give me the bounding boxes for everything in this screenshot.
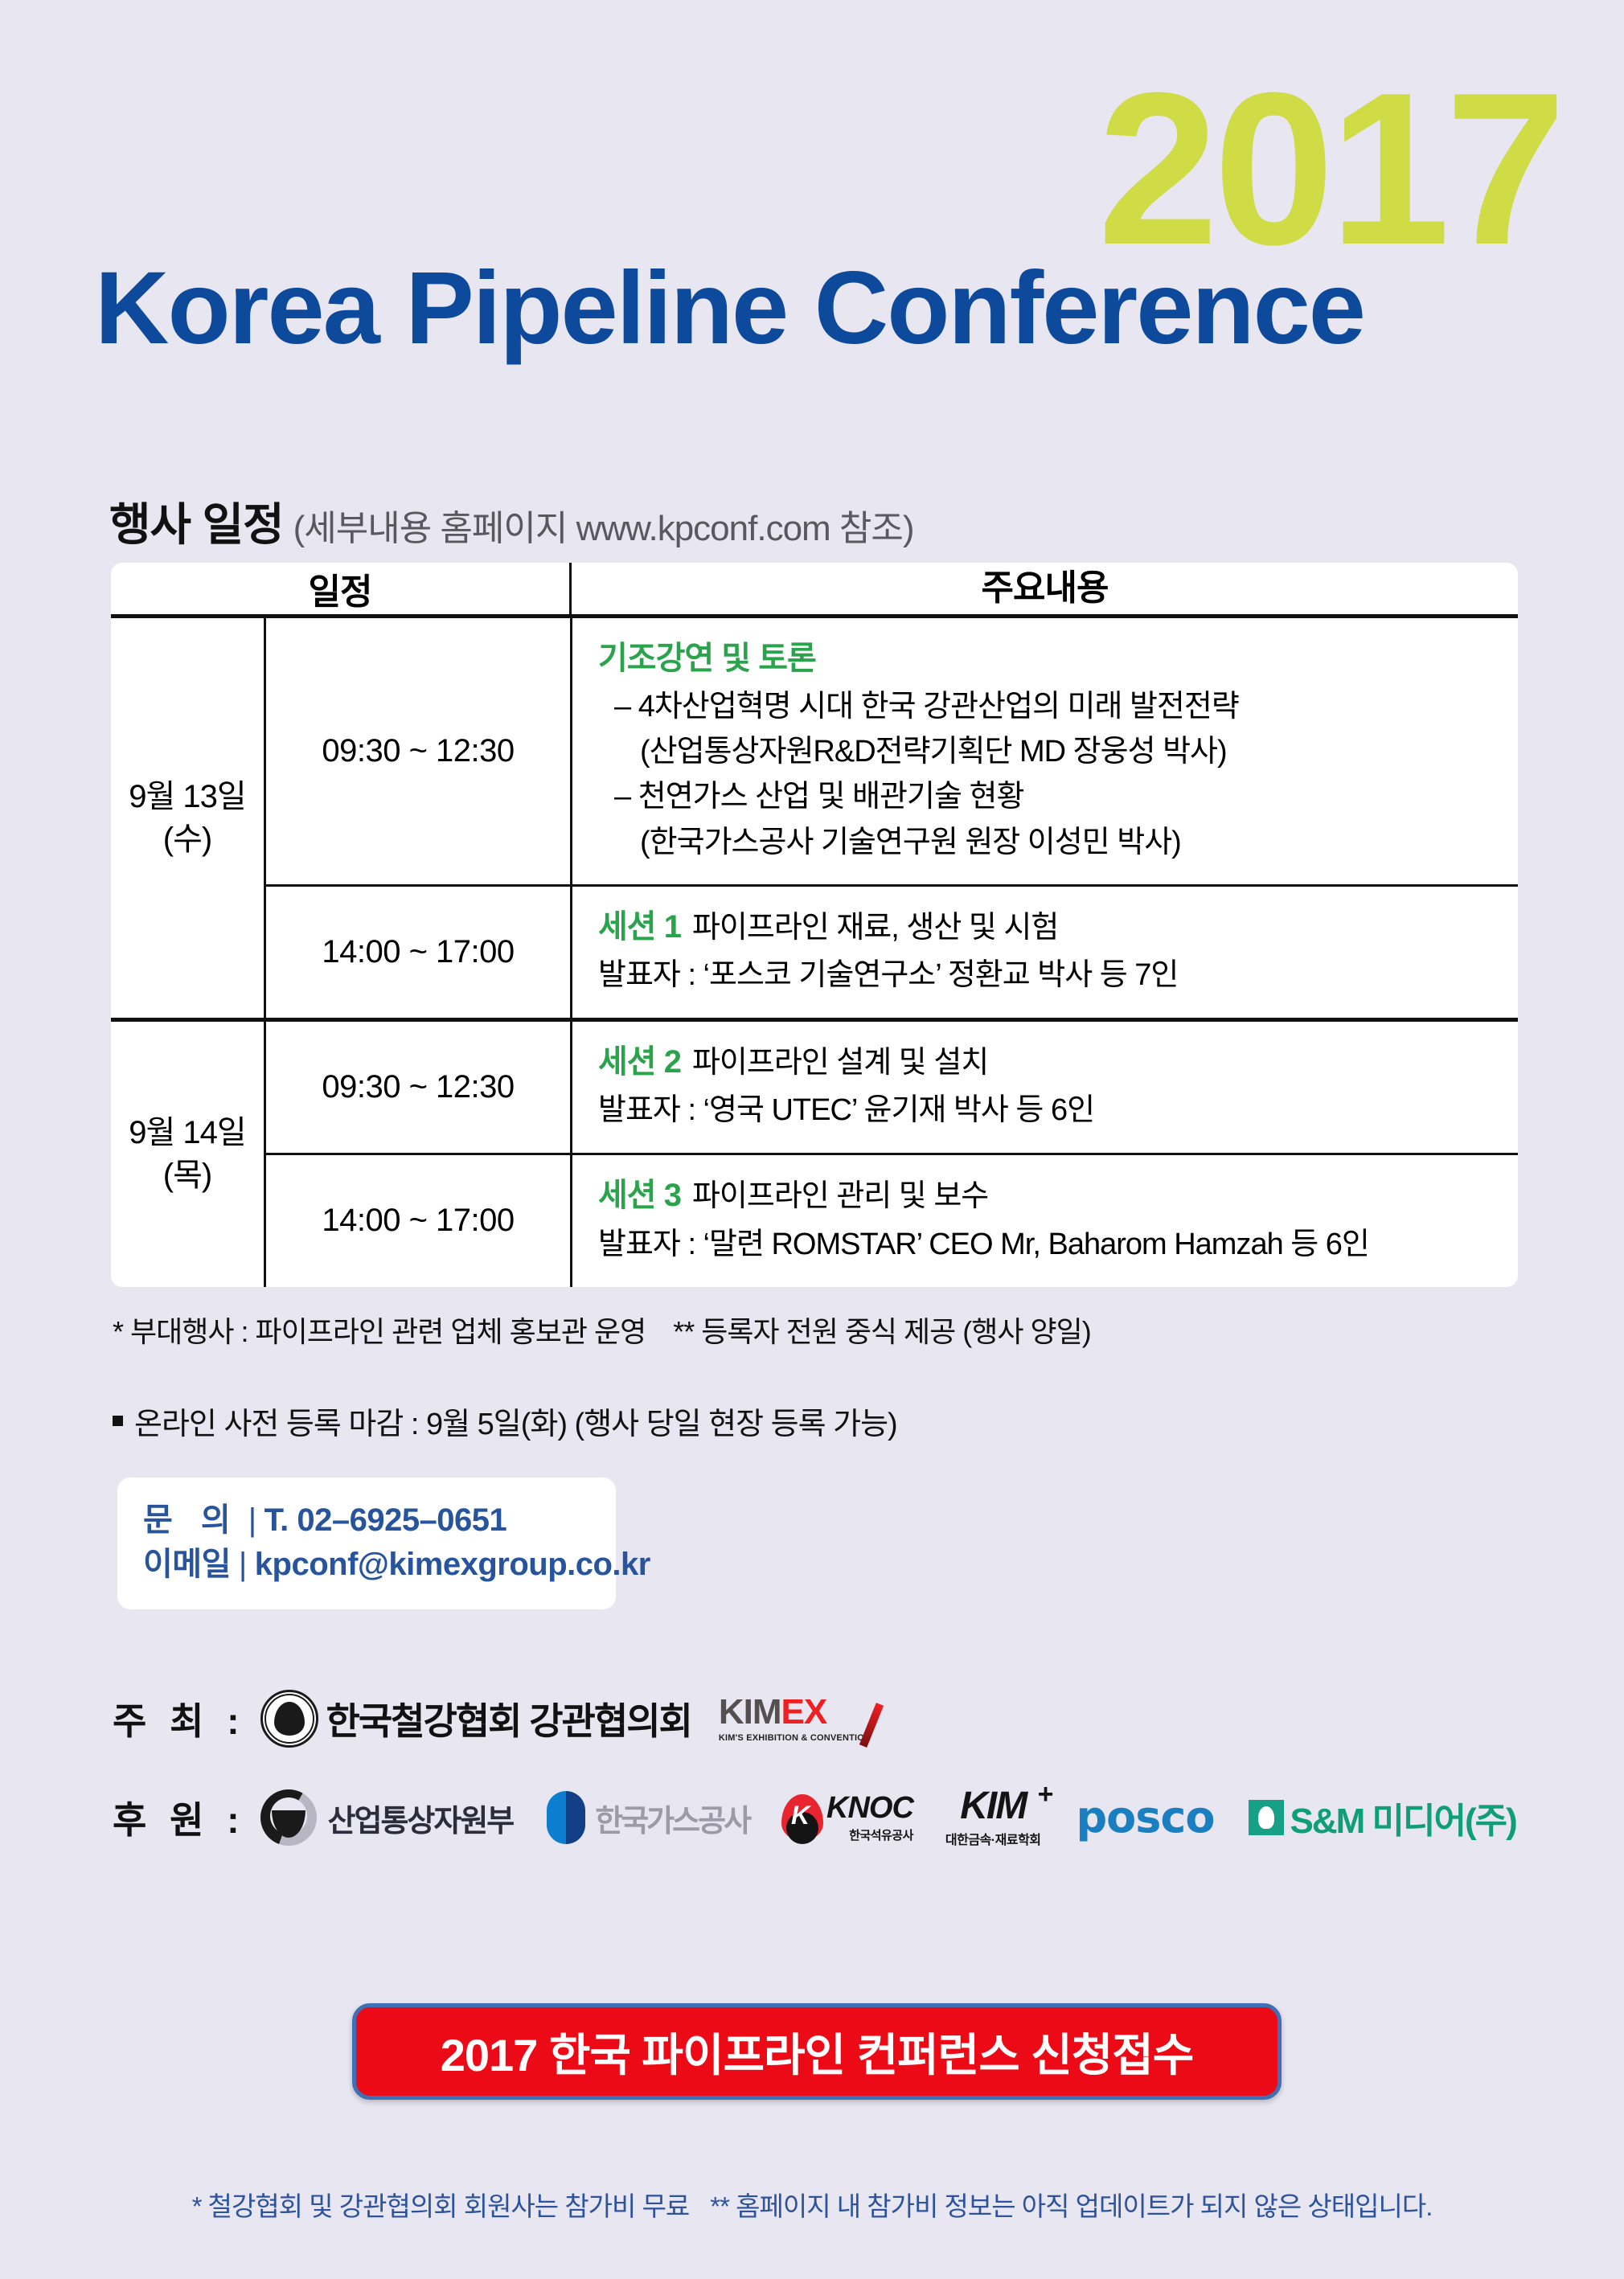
kimex-wordmark: KIMEX (719, 1695, 826, 1730)
session-number: 세션 2 (598, 1044, 681, 1080)
sponsor-name-snm: S&M 미디어(주) (1290, 1792, 1516, 1843)
kogas-icon (547, 1791, 585, 1844)
session-detail-line: – 4차산업혁명 시대 한국 강관산업의 미래 발전전략 (598, 684, 1507, 729)
day-label-2: 9월 14일 (목) (111, 1022, 264, 1286)
session-detail-line: (산업통상자원R&D전략기획단 MD 장웅성 박사) (598, 729, 1507, 774)
footnote-part-b: ** 홈페이지 내 참가비 정보는 아직 업데이트가 되지 않은 상태입니다. (710, 2191, 1432, 2221)
session-speaker-line: 발표자 : ‘포스코 기술연구소’ 정환교 박사 등 7인 (598, 953, 1507, 998)
kosa-seal-icon (260, 1690, 318, 1748)
footnote: * 철강협회 및 강관협의회 회원사는 참가비 무료** 홈페이지 내 참가비 … (0, 2185, 1624, 2224)
time-cell: 14:00 ~ 17:00 (266, 887, 570, 1018)
posco-logo: posco (1077, 1796, 1215, 1839)
contact-separator: | (239, 1547, 247, 1582)
table-row: 09:30 ~ 12:30 기조강연 및 토론 – 4차산업혁명 시대 한국 강… (266, 618, 1518, 884)
kim-plus-icon: + (1038, 1781, 1054, 1808)
column-header-date: 일정 (111, 563, 569, 614)
contact-email-row: 이메일|kpconf@kimexgroup.co.kr (143, 1543, 616, 1587)
time-cell: 09:30 ~ 12:30 (266, 618, 570, 884)
contact-separator: | (248, 1502, 256, 1538)
schedule-heading: 행사 일정 (세부내용 홈페이지 www.kpconf.com 참조) (109, 489, 914, 554)
sponsor-subname-knoc: 한국석유공사 (826, 1826, 913, 1843)
year-badge: 2017 (1097, 77, 1561, 262)
note-registration-text: 온라인 사전 등록 마감 : 9월 5일(화) (행사 당일 현장 등록 가능) (134, 1399, 897, 1443)
day-label-1: 9월 13일 (수) (111, 618, 264, 1018)
content-cell: 세션 1파이프라인 재료, 생산 및 시험 발표자 : ‘포스코 기술연구소’ … (570, 887, 1518, 1018)
day-rows-2: 09:30 ~ 12:30 세션 2파이프라인 설계 및 설치 발표자 : ‘영… (264, 1022, 1518, 1286)
note-lunch-text: ** 등록자 전원 중식 제공 (행사 양일) (673, 1315, 1091, 1348)
session-label: 세션 2파이프라인 설계 및 설치 (598, 1039, 1507, 1084)
session-speaker-line: 발표자 : ‘영국 UTEC’ 윤기재 박사 등 6인 (598, 1088, 1507, 1133)
note-side-events: * 부대행사 : 파이프라인 관련 업체 홍보관 운영** 등록자 전원 중식 … (113, 1309, 1091, 1351)
table-body: 9월 13일 (수) 09:30 ~ 12:30 기조강연 및 토론 – 4차산… (111, 614, 1518, 1287)
column-header-content: 주요내용 (569, 563, 1518, 614)
snm-logo: S&M 미디어(주) (1249, 1792, 1516, 1843)
schedule-heading-main: 행사 일정 (109, 489, 284, 554)
day-rows-1: 09:30 ~ 12:30 기조강연 및 토론 – 4차산업혁명 시대 한국 강… (264, 618, 1518, 1018)
session-label: 세션 3파이프라인 관리 및 보수 (598, 1173, 1507, 1218)
note-side-events-text: * 부대행사 : 파이프라인 관련 업체 홍보관 운영 (113, 1315, 646, 1348)
session-detail-line: – 천연가스 산업 및 배관기술 현황 (598, 774, 1507, 819)
contact-email-label: 이메일 (143, 1547, 231, 1582)
sponsor-name-kogas: 한국가스공사 (595, 1796, 749, 1840)
kimex-part-ex: EX (781, 1692, 827, 1732)
day-date-line-1: 9월 13일 (129, 776, 245, 818)
day-block-2: 9월 14일 (목) 09:30 ~ 12:30 세션 2파이프라인 설계 및 … (111, 1018, 1518, 1286)
table-row: 14:00 ~ 17:00 세션 1파이프라인 재료, 생산 및 시험 발표자 … (266, 884, 1518, 1018)
session-number: 세션 3 (598, 1178, 681, 1213)
session-label: 기조강연 및 토론 (598, 636, 1507, 681)
content-cell: 세션 3파이프라인 관리 및 보수 발표자 : ‘말련 ROMSTAR’ CEO… (570, 1155, 1518, 1286)
contact-phone-label: 문 의 (143, 1502, 240, 1538)
poster-header: 2017 Korea Pipeline Conference (0, 0, 1624, 418)
kimex-logo: KIMEX KIM'S EXHIBITION & CONVENTION (719, 1695, 871, 1743)
day-block-1: 9월 13일 (수) 09:30 ~ 12:30 기조강연 및 토론 – 4차산… (111, 618, 1518, 1018)
snm-icon (1249, 1800, 1284, 1835)
session-topic: 파이프라인 재료, 생산 및 시험 (692, 911, 1058, 945)
content-cell: 세션 2파이프라인 설계 및 설치 발표자 : ‘영국 UTEC’ 윤기재 박사… (570, 1022, 1518, 1153)
organizer-row: 주 최 : 한국철강협회 강관협의회 KIMEX KIM'S EXHIBITIO… (113, 1680, 871, 1757)
knoc-textwrap: KNOC 한국석유공사 (826, 1793, 913, 1843)
time-cell: 14:00 ~ 17:00 (266, 1155, 570, 1286)
sponsor-name-knoc: KNOC (826, 1793, 913, 1823)
session-topic: 파이프라인 설계 및 설치 (692, 1046, 988, 1080)
time-cell: 09:30 ~ 12:30 (266, 1022, 570, 1153)
day-weekday-line-2: (목) (163, 1154, 211, 1197)
table-row: 09:30 ~ 12:30 세션 2파이프라인 설계 및 설치 발표자 : ‘영… (266, 1022, 1518, 1153)
organizer-name: 한국철강협회 강관협의회 (326, 1692, 691, 1745)
footnote-part-a: * 철강협회 및 강관협의회 회원사는 참가비 무료 (192, 2191, 690, 2221)
motie-taegeuk-icon (260, 1789, 317, 1846)
organizer-label: 주 최 : (113, 1692, 246, 1745)
schedule-heading-subtitle: (세부내용 홈페이지 www.kpconf.com 참조) (293, 499, 914, 551)
square-bullet-icon (113, 1416, 123, 1426)
day-date-line-2: 9월 14일 (129, 1112, 245, 1154)
sponsor-label: 후 원 : (113, 1791, 246, 1844)
contact-phone-row: 문 의|T. 02–6925–0651 (143, 1498, 616, 1543)
kimex-tagline: KIM'S EXHIBITION & CONVENTION (719, 1734, 871, 1743)
knoc-icon: K (781, 1794, 823, 1841)
contact-email-value[interactable]: kpconf@kimexgroup.co.kr (255, 1547, 650, 1582)
knoc-k-letter: K (791, 1801, 810, 1830)
sponsor-name-kim: KIM (960, 1787, 1026, 1826)
page-title: Korea Pipeline Conference (95, 257, 1364, 360)
sponsor-row: 후 원 : 산업통상자원부 한국가스공사 K KNOC 한국석유공사 KIM +… (113, 1781, 1516, 1855)
schedule-table: 일정 주요내용 9월 13일 (수) 09:30 ~ 12:30 기조강연 및 … (111, 563, 1518, 1287)
session-topic: 파이프라인 관리 및 보수 (692, 1179, 988, 1213)
table-row: 14:00 ~ 17:00 세션 3파이프라인 관리 및 보수 발표자 : ‘말… (266, 1153, 1518, 1286)
day-weekday-line-1: (수) (163, 818, 211, 861)
registration-cta-label: 2017 한국 파이프라인 컨퍼런스 신청접수 (441, 2019, 1194, 2084)
knoc-logo: K KNOC 한국석유공사 (781, 1793, 913, 1843)
note-registration: 온라인 사전 등록 마감 : 9월 5일(화) (행사 당일 현장 등록 가능) (113, 1399, 897, 1443)
sponsor-subname-kim: 대한금속·재료학회 (945, 1829, 1041, 1848)
table-header-row: 일정 주요내용 (111, 563, 1518, 614)
session-label: 세션 1파이프라인 재료, 생산 및 시험 (598, 904, 1507, 949)
kogas-left-half (547, 1791, 566, 1844)
kogas-right-half (566, 1791, 585, 1844)
session-number: 세션 1 (598, 909, 681, 945)
kimex-part-kim: KIM (719, 1692, 781, 1732)
sponsor-name-motie: 산업통상자원부 (328, 1796, 514, 1840)
session-detail-line: (한국가스공사 기술연구원 원장 이성민 박사) (598, 820, 1507, 865)
kim-logo: KIM + 대한금속·재료학회 (945, 1787, 1041, 1848)
registration-cta-button[interactable]: 2017 한국 파이프라인 컨퍼런스 신청접수 (352, 2003, 1282, 2100)
session-speaker-line: 발표자 : ‘말련 ROMSTAR’ CEO Mr, Baharom Hamza… (598, 1222, 1507, 1268)
contact-box: 문 의|T. 02–6925–0651 이메일|kpconf@kimexgrou… (117, 1478, 616, 1609)
kimex-slash-icon (859, 1703, 884, 1748)
content-cell: 기조강연 및 토론 – 4차산업혁명 시대 한국 강관산업의 미래 발전전략 (… (570, 618, 1518, 884)
contact-phone-value[interactable]: T. 02–6925–0651 (265, 1502, 507, 1538)
